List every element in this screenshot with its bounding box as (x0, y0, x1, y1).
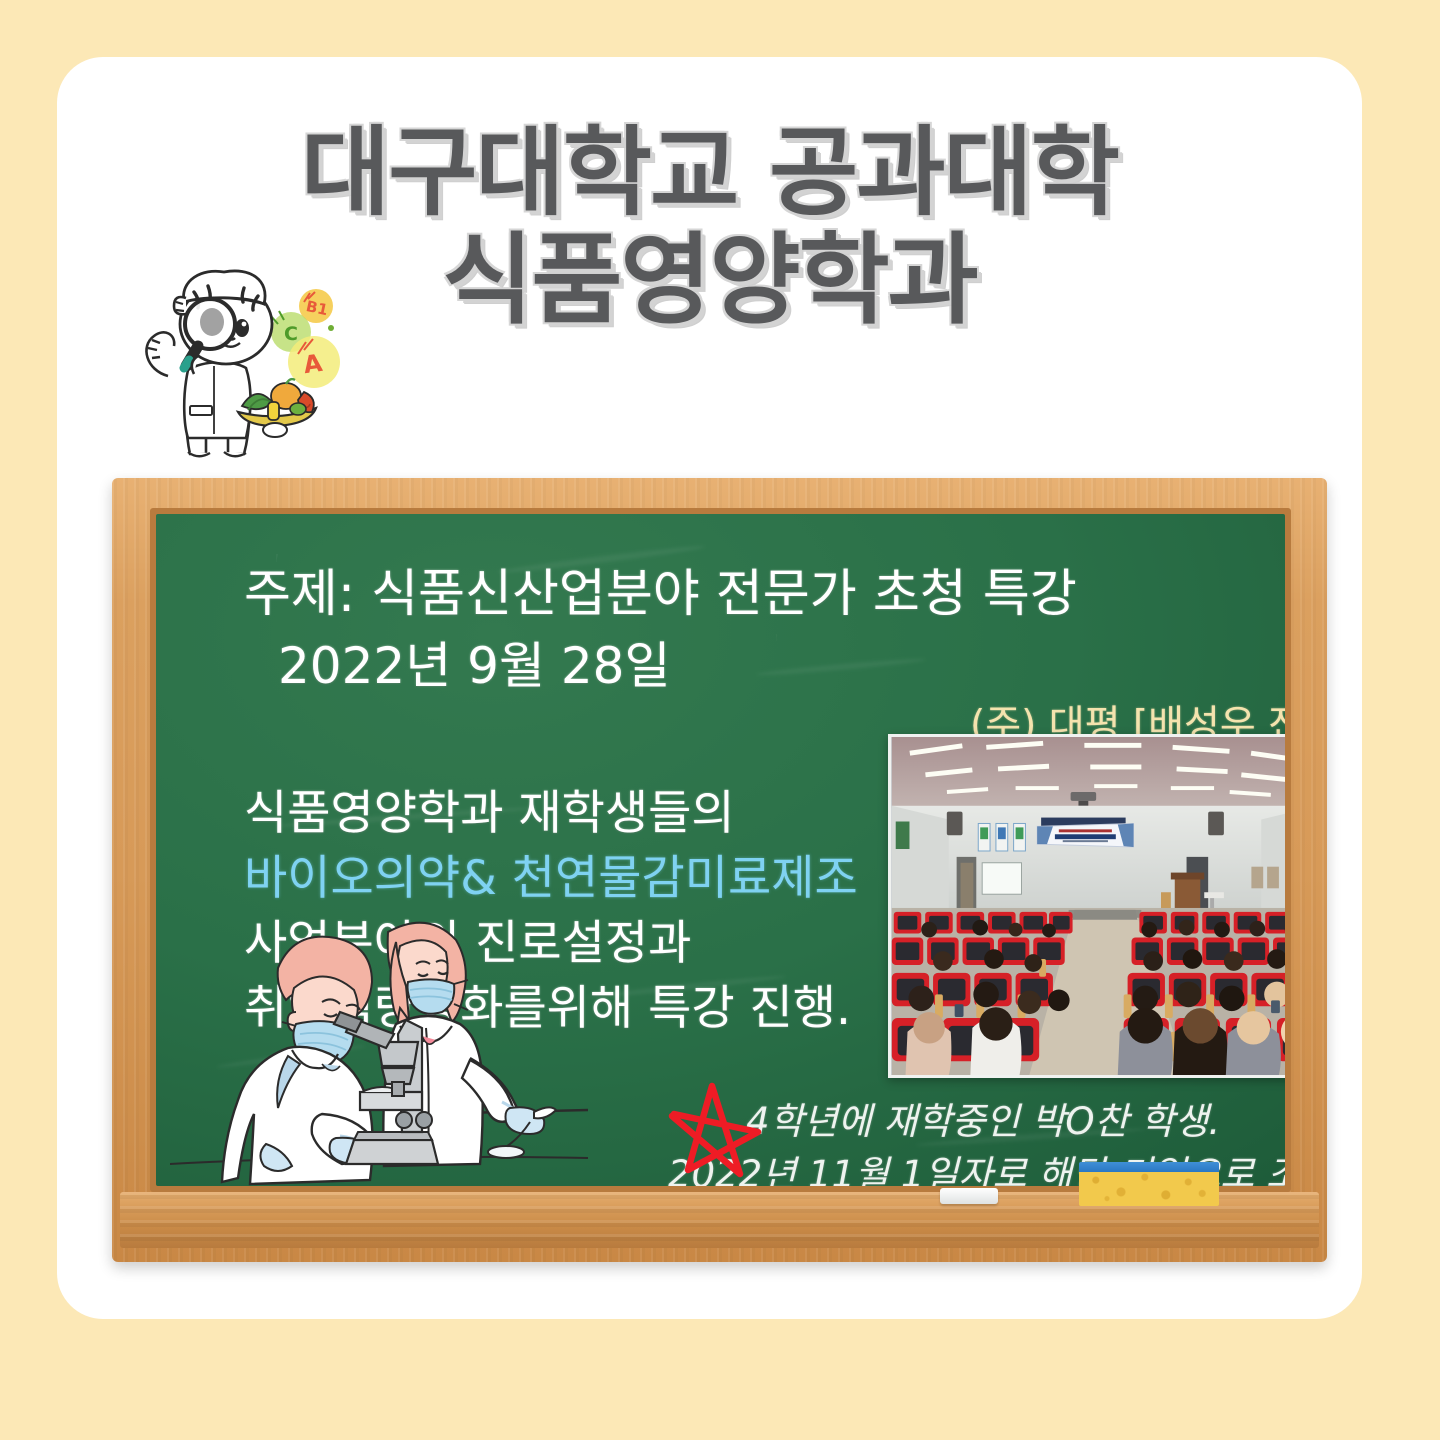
board-body-line-1: 식품영양학과 재학생들의 (244, 782, 858, 847)
chalkboard-surface: 주제: 식품신산업분야 전문가 초청 특강 2022년 9월 28일 (주) 대… (156, 514, 1285, 1186)
sponge-eraser-icon (1079, 1162, 1219, 1206)
chalk-stick-icon (940, 1188, 998, 1204)
board-footer-line-1: 4학년에 재학중인 박O찬 학생. (668, 1096, 1285, 1149)
board-topic-line: 주제: 식품신산업분야 전문가 초청 특강 (244, 552, 1077, 626)
poster-root: 대구대학교 공과대학 식품영양학과 B1 C A (0, 0, 1440, 1440)
svg-text:C: C (284, 323, 298, 345)
chalkboard: 주제: 식품신산업분야 전문가 초청 특강 2022년 9월 28일 (주) 대… (112, 478, 1327, 1262)
lecture-hall-photo (888, 734, 1285, 1078)
board-date-line: 2022년 9월 28일 (278, 626, 670, 698)
board-body-line-2: 바이오의약& 천연물감미료제조 (244, 847, 858, 912)
tiger-mascot-icon: B1 C A (128, 266, 358, 481)
researchers-illustration (170, 908, 588, 1186)
